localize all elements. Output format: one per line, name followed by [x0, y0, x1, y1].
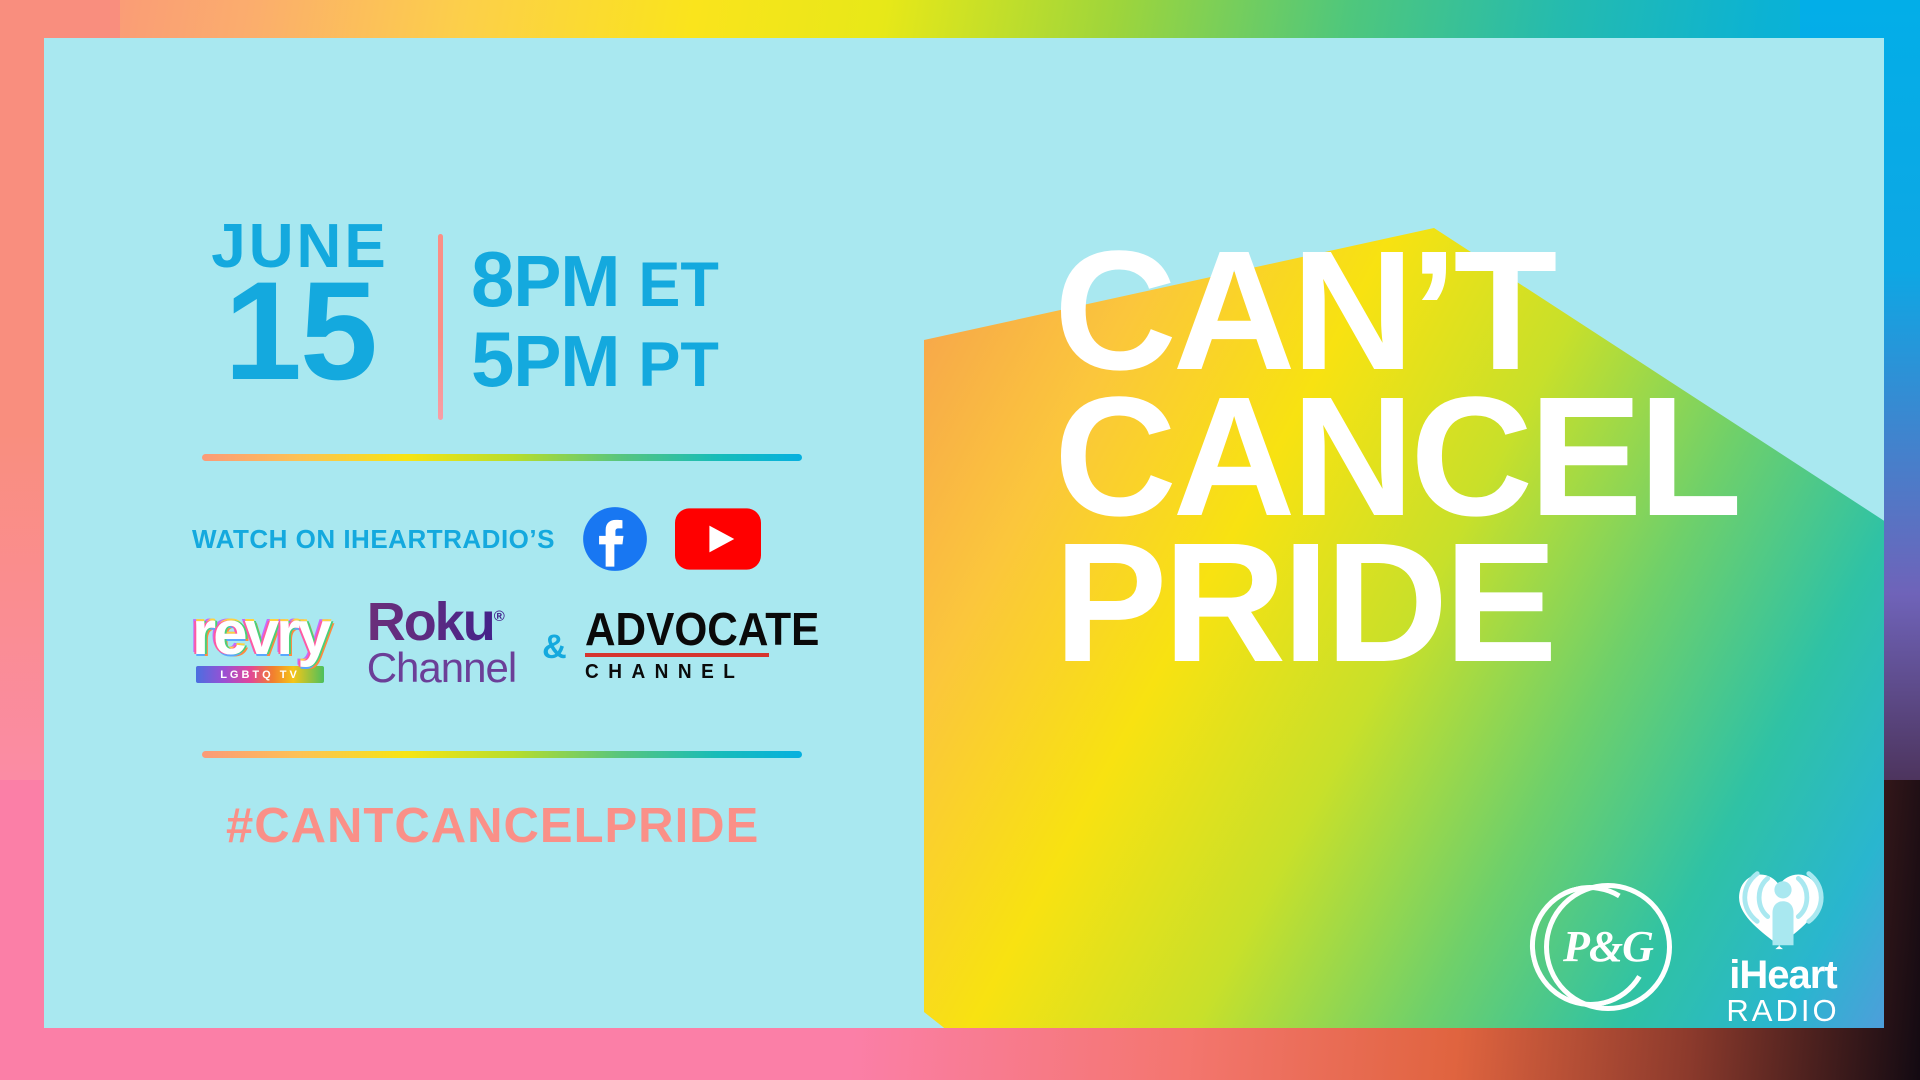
revry-wordmark: revry	[192, 605, 329, 664]
advocate-channel-text: CHANNEL	[585, 661, 827, 684]
rainbow-divider-bottom	[202, 751, 802, 758]
roku-channel-logo[interactable]: Roku® Channel	[367, 599, 516, 689]
roku-registered-mark: ®	[494, 608, 503, 625]
roku-word-text: Roku	[367, 592, 494, 652]
advocate-channel-logo[interactable]: ADVOCATE CHANNEL	[585, 605, 840, 684]
pg-logo: P&G	[1544, 883, 1672, 1011]
youtube-icon[interactable]	[675, 508, 761, 570]
facebook-icon[interactable]	[581, 505, 649, 573]
revry-logo[interactable]: revry LGBTQ TV	[192, 605, 329, 683]
time-pt-number: 5	[471, 315, 513, 403]
date-block: JUNE 15	[174, 218, 426, 391]
time-et-zone: ET	[638, 250, 719, 320]
iheart-wordmark: iHeart	[1708, 955, 1858, 995]
event-details-column: JUNE 15 8PM ET 5PM PT WATCH ON IHEARTRAD…	[174, 218, 814, 854]
watch-on-label: WATCH ON IHEARTRADIO’S	[192, 524, 555, 555]
headline: CAN’T CANCEL PRIDE	[1054, 238, 1738, 677]
iheart-heart-icon	[1725, 865, 1841, 951]
ampersand: &	[542, 628, 567, 667]
sponsor-logos: P&G iHeart RADIO	[1544, 865, 1858, 1028]
headline-line-3: PRIDE	[1054, 530, 1738, 676]
vertical-divider	[438, 234, 443, 420]
campaign-hashtag: #CANTCANCELPRIDE	[226, 798, 814, 854]
time-eastern: 8PM ET	[471, 240, 719, 320]
iheart-radio-text: RADIO	[1708, 995, 1858, 1028]
roku-channel-text: Channel	[367, 647, 516, 689]
time-pacific: 5PM PT	[471, 320, 719, 400]
time-block: 8PM ET 5PM PT	[471, 218, 719, 399]
roku-wordmark: Roku®	[367, 599, 516, 645]
date-time-row: JUNE 15 8PM ET 5PM PT	[174, 218, 814, 420]
revry-tagline-bar: LGBTQ TV	[196, 666, 324, 683]
streaming-platforms-row: revry LGBTQ TV Roku® Channel & ADVOCATE …	[192, 599, 814, 689]
pg-wordmark: P&G	[1544, 883, 1672, 1011]
time-et-number: 8	[471, 235, 513, 323]
time-pt-zone: PT	[638, 330, 719, 400]
watch-on-row: WATCH ON IHEARTRADIO’S	[192, 505, 814, 573]
iheartradio-logo: iHeart RADIO	[1708, 865, 1858, 1028]
time-et-meridiem: PM	[513, 242, 619, 322]
rainbow-divider-top	[202, 454, 802, 461]
event-day: 15	[174, 271, 426, 391]
time-pt-meridiem: PM	[513, 322, 619, 402]
revry-tagline: LGBTQ TV	[220, 669, 300, 681]
advocate-wordmark: ADVOCATE	[585, 609, 819, 650]
